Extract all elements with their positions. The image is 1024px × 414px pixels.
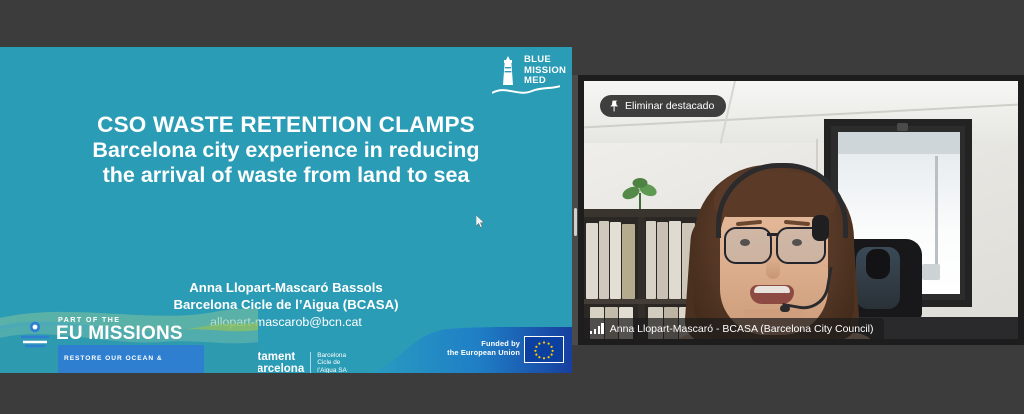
bcasa-line-1: Barcelona: [317, 352, 347, 360]
author-name: Anna Llopart-Mascaró Bassols: [0, 279, 572, 296]
video-tile[interactable]: Eliminar destacado Anna Llopart-Mascaró …: [578, 75, 1024, 345]
logo-line-1: BLUE: [524, 55, 566, 66]
window-blind-cord: [935, 156, 938, 268]
funded-by-text: Funded by the European Union: [447, 339, 520, 357]
eu-missions-logo: PART OF THE EU MISSIONS RESTORE OUR OCEA…: [14, 315, 204, 357]
binder: [657, 222, 668, 299]
binder: [610, 222, 621, 299]
binder: [586, 223, 598, 299]
participant-name-strip: Anna Llopart-Mascaró - BCASA (Barcelona …: [584, 318, 884, 339]
unpin-button[interactable]: Eliminar destacado: [600, 95, 726, 117]
binder: [646, 221, 656, 299]
funded-line-1: Funded by: [447, 339, 520, 348]
eu-flag-icon: [524, 336, 564, 363]
bcasa-line-2: Cicle de: [317, 359, 347, 367]
eu-missions-tagline: RESTORE OUR OCEAN & WATERS: [64, 355, 163, 374]
participant-name: Anna Llopart-Mascaró - BCASA (Barcelona …: [610, 323, 874, 335]
slide-title-line-3: the arrival of waste from land to sea: [103, 163, 470, 188]
slide-title-line-1: CSO WASTE RETENTION CLAMPS: [0, 112, 572, 138]
eu-missions-title: EU MISSIONS: [56, 323, 183, 344]
bcasa-line-3: l’Aigua SA: [317, 367, 347, 373]
window-handle: [922, 264, 940, 280]
mouse-cursor-icon: [476, 215, 485, 228]
slide-title-line-2: Barcelona city experience in reducing: [0, 138, 572, 163]
logo-divider: [310, 352, 311, 373]
eu-missions-tagline-bar: RESTORE OUR OCEAN & WATERS: [58, 345, 204, 373]
blue-mission-med-logo: BLUE MISSION MED: [490, 51, 562, 99]
funded-by-eu-banner: Funded by the European Union: [362, 327, 572, 373]
headset-microphone: [780, 305, 790, 312]
office-chair-headrest: [866, 249, 890, 279]
wave-icon: [492, 84, 560, 98]
person-nose: [766, 257, 780, 279]
pane-divider-grip[interactable]: [574, 208, 577, 236]
bcasa-sublogo: Barcelona Cicle de l’Aigua SA: [317, 352, 347, 373]
video-feed[interactable]: Eliminar destacado Anna Llopart-Mascaró …: [584, 81, 1018, 339]
blue-mission-med-wordmark: BLUE MISSION MED: [524, 55, 566, 87]
window-latch: [897, 123, 908, 131]
window-blind: [838, 132, 960, 156]
slide-title: CSO WASTE RETENTION CLAMPS Barcelona cit…: [0, 112, 572, 188]
audio-level-icon: [590, 323, 604, 334]
headset-earcup: [812, 215, 829, 241]
eu-missions-banner: PART OF THE EU MISSIONS RESTORE OUR OCEA…: [0, 300, 258, 373]
pin-icon: [609, 100, 619, 112]
lighthouse-icon: [498, 56, 518, 86]
unpin-button-label: Eliminar destacado: [625, 100, 714, 112]
funded-line-2: the European Union: [447, 348, 520, 357]
binder: [669, 221, 681, 299]
screen-share-view: BLUE MISSION MED CSO WASTE RETENTION CLA…: [0, 0, 1024, 414]
eu-missions-wave-mark-icon: [19, 320, 51, 350]
bookshelf-top: [584, 209, 704, 217]
binder: [622, 224, 635, 299]
shared-slide[interactable]: BLUE MISSION MED CSO WASTE RETENTION CLA…: [0, 47, 572, 373]
binder: [599, 221, 609, 299]
